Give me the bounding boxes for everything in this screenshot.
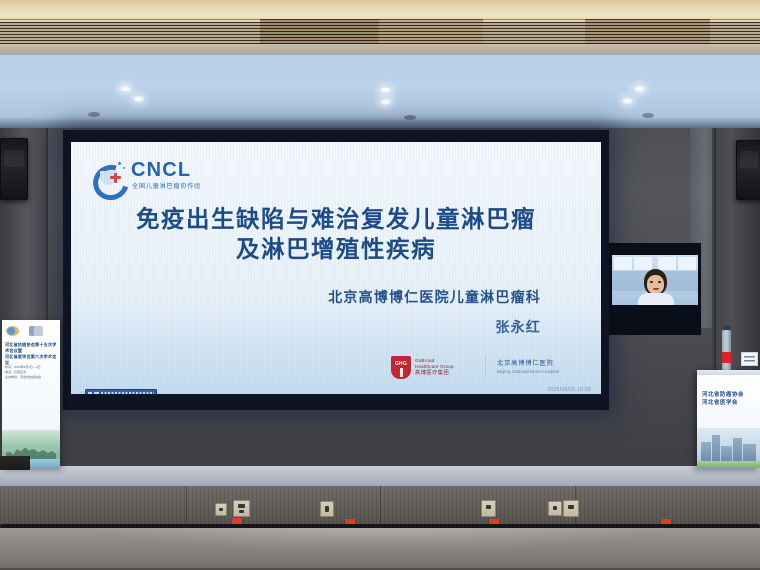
gobroad-cn: 高博医疗集团 xyxy=(415,370,477,377)
presentation-slide: CNCL 全国儿童淋巴瘤协作组 免疫出生缺陷与难治复发儿童淋巴瘤 及淋巴增殖性疾… xyxy=(71,142,601,394)
ceiling-louver-segment xyxy=(585,19,710,45)
downlight-icon xyxy=(622,98,633,104)
floor-outlet xyxy=(481,500,496,517)
toolbar-glyphs[interactable] xyxy=(101,392,154,395)
slide-timestamp: 2025/08/05 10:09 xyxy=(547,387,591,393)
hall-floor xyxy=(0,528,760,570)
society-logo-icon xyxy=(29,326,43,336)
banner-title: 河北省抗癌协会第十五次学术会议暨 河北省医学会第六次学术会议 xyxy=(5,342,58,366)
podium-text: 河北省防癌协会 河北省医学会 xyxy=(702,392,760,407)
podium-line2: 河北省医学会 xyxy=(702,400,760,408)
floor-outlet xyxy=(320,501,334,517)
floor-outlet xyxy=(215,503,227,516)
powerpoint-presenter-toolbar[interactable] xyxy=(85,389,157,394)
pointer-icon[interactable] xyxy=(88,392,92,395)
downlight-icon xyxy=(120,86,131,92)
slide-footer-logos: GHG GoBroad Healthcare Group 高博医疗集团 北京高博… xyxy=(391,354,591,380)
logo-divider xyxy=(485,357,486,377)
downlight-icon xyxy=(634,86,645,92)
podium-cityscape-graphic xyxy=(697,428,760,468)
loudspeaker-left xyxy=(0,138,28,200)
slide-title-line1: 免疫出生缺陷与难治复发儿童淋巴瘤 xyxy=(71,204,601,234)
ceiling-vent xyxy=(642,113,654,118)
podium-top-surface xyxy=(697,370,760,375)
banner-details: 时间：2025年8月1日—3日 地点：石家庄市 主办单位：河北省抗癌协会 xyxy=(5,365,58,380)
ceiling-blue-soffit xyxy=(0,55,760,131)
slides-grid-icon[interactable] xyxy=(94,392,99,394)
slide-title-line2: 及淋巴增殖性疾病 xyxy=(71,234,601,264)
presenter-face xyxy=(647,275,664,294)
bottle-label xyxy=(722,352,731,363)
cncl-subtitle: 全国儿童淋巴瘤协作组 xyxy=(132,181,201,190)
water-bottle xyxy=(722,330,731,372)
ghg-badge-text: GHG xyxy=(391,361,411,367)
stage-deck-top xyxy=(0,466,760,488)
banner-title-line1: 河北省抗癌协会第十五次学术会议暨 xyxy=(5,342,58,354)
boren-cn: 北京高博博仁医院 xyxy=(497,360,592,368)
gobroad-en-line2: Healthcare Group xyxy=(415,364,477,370)
conference-stage-photo: CNCL 全国儿童淋巴瘤协作组 免疫出生缺陷与难治复发儿童淋巴瘤 及淋巴增殖性疾… xyxy=(0,0,760,570)
boren-en: Beijing GoBroad Boren Hospital xyxy=(497,369,592,375)
floor-outlet xyxy=(548,501,562,516)
speaker-video-feed xyxy=(612,255,698,305)
podium-banner: 河北省防癌协会 河北省医学会 xyxy=(697,370,760,468)
boren-hospital-logo-text: 北京高博博仁医院 Beijing GoBroad Boren Hospital xyxy=(497,360,592,375)
floor-outlet xyxy=(233,500,250,517)
downlight-icon xyxy=(380,99,391,105)
ceiling-vent xyxy=(88,112,100,117)
floor-outlet xyxy=(563,500,579,517)
association-logo-icon xyxy=(6,326,19,336)
slide-title: 免疫出生缺陷与难治复发儿童淋巴瘤 及淋巴增殖性疾病 xyxy=(71,204,601,264)
ceiling-vent xyxy=(404,115,416,120)
speaker-video-panel xyxy=(609,243,701,335)
ceiling-louver-segment xyxy=(378,19,483,45)
podium-line1: 河北省防癌协会 xyxy=(702,392,760,400)
cncl-ribbon-cross-icon xyxy=(93,161,127,192)
gobroad-shield-icon: GHG xyxy=(391,356,411,379)
led-video-wall: CNCL 全国儿童淋巴瘤协作组 免疫出生缺陷与难治复发儿童淋巴瘤 及淋巴增殖性疾… xyxy=(63,130,609,410)
roll-up-banner-left: 河北省抗癌协会第十五次学术会议暨 河北省医学会第六次学术会议 时间：2025年8… xyxy=(2,320,60,468)
slide-gradient-wash xyxy=(71,304,601,394)
gobroad-logo-text: GoBroad Healthcare Group 高博医疗集团 xyxy=(415,358,477,377)
floor-shadow-block xyxy=(0,456,30,470)
cncl-logo: CNCL 全国儿童淋巴瘤协作组 xyxy=(93,160,253,194)
cncl-acronym: CNCL xyxy=(131,160,191,180)
downlight-icon xyxy=(133,96,144,102)
loudspeaker-right xyxy=(736,140,760,200)
banner-detail-3: 主办单位：河北省抗癌协会 xyxy=(5,375,58,380)
banner-logos xyxy=(6,325,56,336)
downlight-icon xyxy=(380,87,391,93)
podium-name-card xyxy=(741,352,758,366)
presenter-torso xyxy=(638,293,674,305)
ceiling-louver-segment xyxy=(260,19,380,45)
